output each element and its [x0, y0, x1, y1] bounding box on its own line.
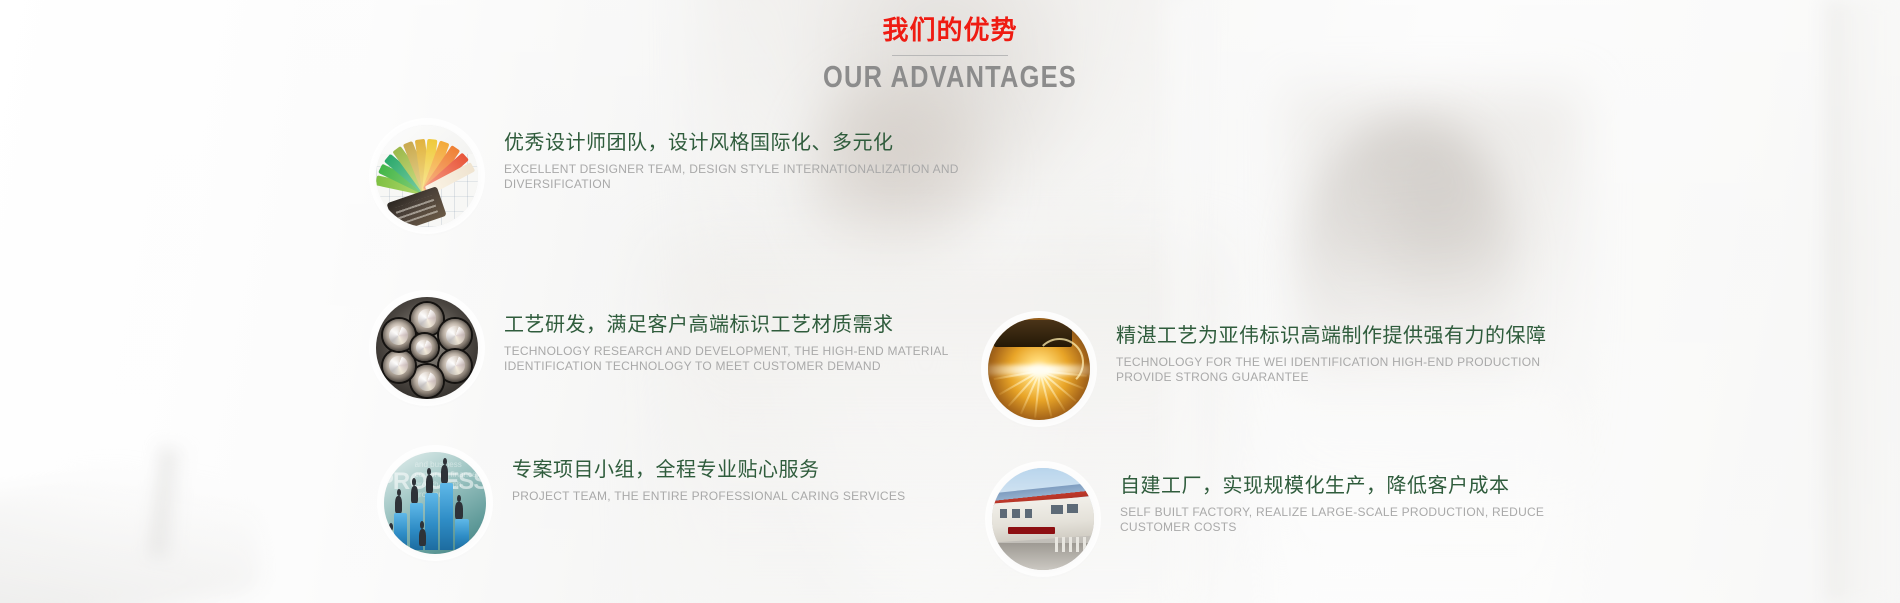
section-heading: 我们的优势 OUR ADVANTAGES — [0, 16, 1900, 94]
factory-building-icon — [992, 468, 1094, 570]
advantages-banner: 我们的优势 OUR ADVANTAGES — [0, 0, 1900, 603]
advantage-item-technology-rd[interactable]: 工艺研发，满足客户高端标识工艺材质需求 TECHNOLOGY RESEARCH … — [376, 297, 974, 399]
heading-divider — [892, 55, 1008, 56]
advantage-item-designer-team[interactable]: 优秀设计师团队，设计风格国际化、多元化 EXCELLENT DESIGNER T… — [376, 125, 974, 227]
advantage-subtext: PROJECT TEAM, THE ENTIRE PROFESSIONAL CA… — [512, 489, 905, 504]
advantage-item-craftsmanship[interactable]: 精湛工艺为亚伟标识高端制作提供强有力的保障 TECHNOLOGY FOR THE… — [988, 318, 1586, 420]
advantage-subtext: TECHNOLOGY FOR THE WEI IDENTIFICATION HI… — [1116, 355, 1586, 385]
advantage-item-self-built-factory[interactable]: 自建工厂，实现规模化生产，降低客户成本 SELF BUILT FACTORY, … — [992, 468, 1590, 570]
color-swatch-blueprint-icon — [376, 125, 478, 227]
advantage-subtext: TECHNOLOGY RESEARCH AND DEVELOPMENT, THE… — [504, 344, 974, 374]
advantage-subtext: EXCELLENT DESIGNER TEAM, DESIGN STYLE IN… — [504, 162, 974, 192]
advantage-headline: 优秀设计师团队，设计风格国际化、多元化 — [504, 129, 974, 155]
metal-pipes-icon — [376, 297, 478, 399]
advantage-headline: 精湛工艺为亚伟标识高端制作提供强有力的保障 — [1116, 322, 1586, 348]
page-title-en: OUR ADVANTAGES — [171, 60, 1729, 94]
advantage-headline: 自建工厂，实现规模化生产，降低客户成本 — [1120, 472, 1590, 498]
welding-sparks-icon — [988, 318, 1090, 420]
business-process-team-icon: and business corporate finance growth gr… — [384, 452, 486, 554]
advantage-headline: 工艺研发，满足客户高端标识工艺材质需求 — [504, 311, 974, 337]
page-title-cn: 我们的优势 — [0, 16, 1900, 46]
advantage-headline: 专案项目小组，全程专业贴心服务 — [512, 456, 905, 482]
advantage-item-project-team[interactable]: and business corporate finance growth gr… — [384, 452, 905, 554]
advantage-subtext: SELF BUILT FACTORY, REALIZE LARGE-SCALE … — [1120, 505, 1590, 535]
